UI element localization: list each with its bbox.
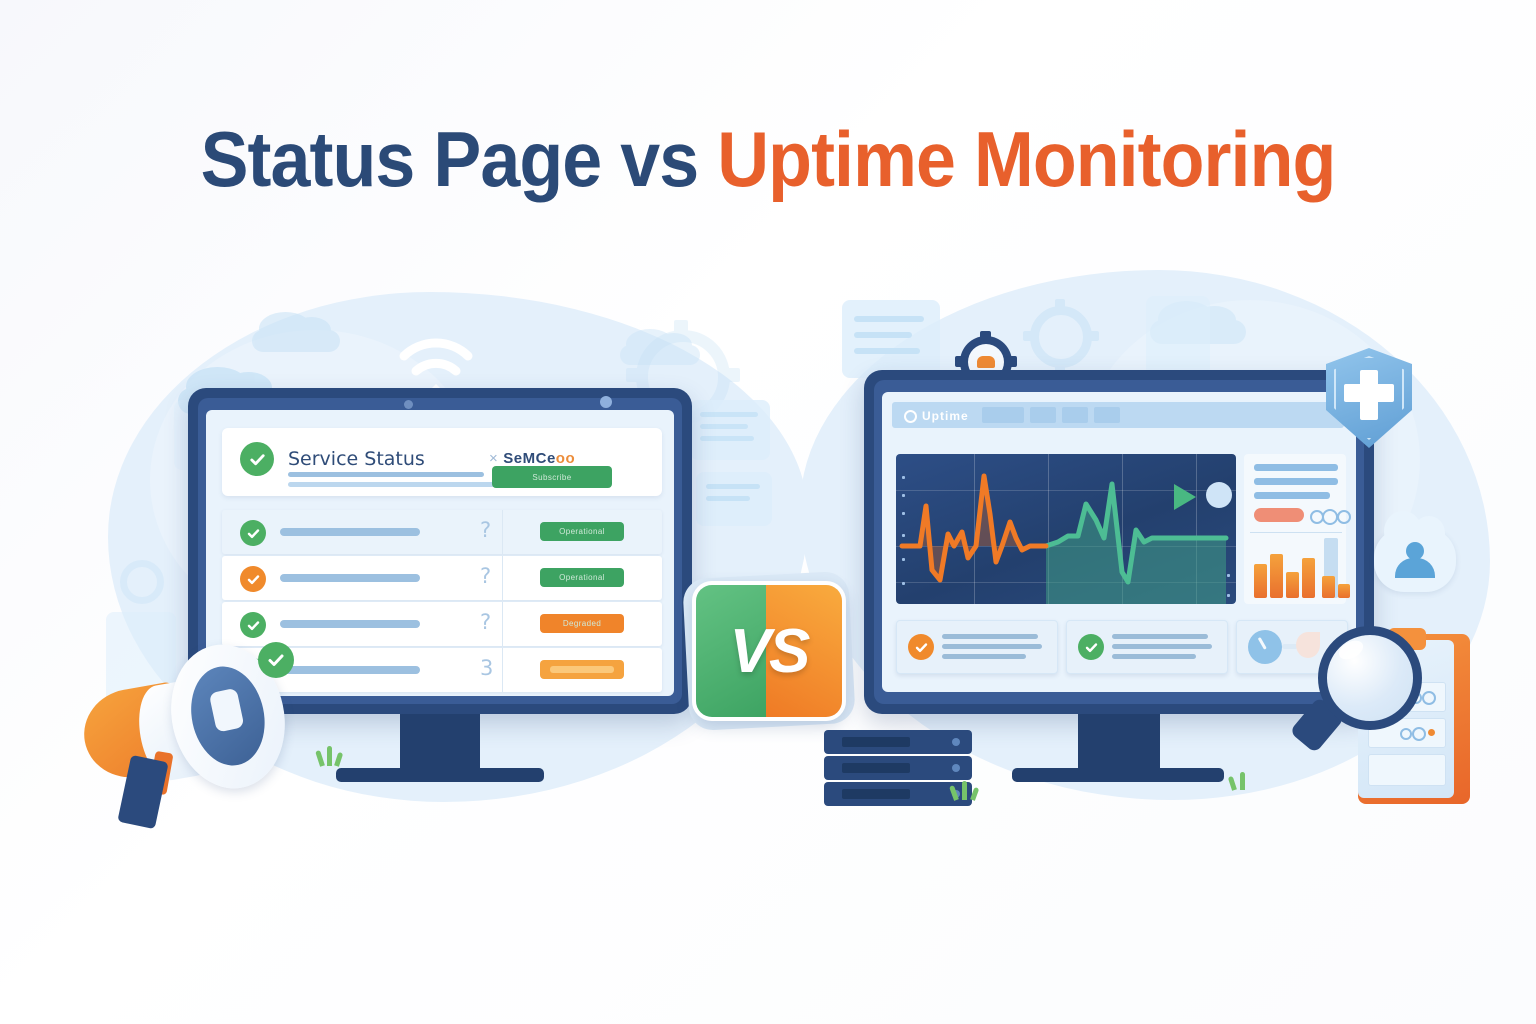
user-cloud-icon xyxy=(1374,528,1456,592)
page-title: Status Page vs Uptime Monitoring xyxy=(61,120,1474,198)
toolbar-tab[interactable] xyxy=(1094,407,1120,423)
side-line xyxy=(1254,492,1330,499)
side-line xyxy=(1254,478,1338,485)
bar-item xyxy=(1270,554,1283,598)
background-line xyxy=(854,316,924,322)
background-line xyxy=(700,412,758,417)
header-line xyxy=(288,482,498,487)
check-circle-icon xyxy=(240,520,266,546)
background-line xyxy=(854,332,912,338)
row-divider xyxy=(502,602,503,646)
bar-item xyxy=(1302,558,1315,598)
title-orange-part: Uptime Monitoring xyxy=(717,115,1335,203)
magnifying-glass-icon xyxy=(1294,622,1414,752)
cloud-icon xyxy=(252,330,340,352)
chart-series xyxy=(896,454,1236,604)
row-glyph: ? xyxy=(480,610,491,634)
vs-badge: VS xyxy=(686,575,852,727)
status-badge: Degraded xyxy=(540,614,624,633)
card-line xyxy=(1112,644,1212,649)
toolbar-tab[interactable] xyxy=(982,407,1024,423)
bar-item xyxy=(1322,576,1335,598)
close-icon: × xyxy=(489,450,498,467)
background-card xyxy=(842,300,940,378)
toolbar-tab[interactable] xyxy=(1062,407,1088,423)
brand-text: SeMCe xyxy=(503,450,556,467)
row-label-line xyxy=(280,528,420,536)
monitor-base xyxy=(336,768,544,782)
header-line xyxy=(288,472,484,477)
status-badge: Operational xyxy=(540,568,624,587)
background-line xyxy=(854,348,920,354)
row-label-line xyxy=(280,620,420,628)
webcam-icon xyxy=(404,400,413,409)
illustration-canvas: Status Page vs Uptime Monitoring xyxy=(0,0,1536,1024)
server-stack-icon xyxy=(824,730,972,754)
status-page-brand: ×SeMCeoo xyxy=(489,450,575,467)
ring-icon xyxy=(1422,691,1436,705)
ring-icon xyxy=(1322,509,1338,525)
monitor-neck xyxy=(400,714,480,770)
status-badge: Operational xyxy=(540,522,624,541)
card-line xyxy=(1112,634,1208,639)
check-circle-icon xyxy=(908,634,934,660)
app-title: Uptime xyxy=(922,409,969,423)
row-divider xyxy=(502,510,503,554)
card-line xyxy=(942,644,1042,649)
check-circle-icon xyxy=(240,566,266,592)
row-divider xyxy=(502,648,503,692)
toolbar-tab[interactable] xyxy=(1030,407,1056,423)
status-badge xyxy=(540,660,624,679)
row-label-line xyxy=(280,574,420,582)
megaphone-icon xyxy=(62,640,312,825)
server-stack-icon xyxy=(824,756,972,780)
bar-item xyxy=(1338,584,1350,598)
monitor-neck xyxy=(1078,714,1160,770)
ring-icon xyxy=(1412,727,1426,741)
play-triangle-icon[interactable] xyxy=(1174,484,1196,510)
row-glyph: ? xyxy=(480,518,491,542)
background-card xyxy=(1146,296,1210,376)
row-divider xyxy=(502,556,503,600)
shield-plus-icon xyxy=(1326,348,1412,448)
check-circle-icon xyxy=(240,612,266,638)
uptime-chart xyxy=(896,454,1236,604)
title-navy-part: Status Page vs xyxy=(201,115,718,203)
bar-item xyxy=(1286,572,1299,598)
side-pill xyxy=(1254,508,1304,522)
rack-row xyxy=(1368,754,1446,786)
side-line xyxy=(1254,464,1338,471)
check-circle-icon xyxy=(258,642,294,678)
card-line xyxy=(942,634,1038,639)
status-orb xyxy=(1206,482,1232,508)
monitor-base xyxy=(1012,768,1224,782)
status-dot xyxy=(1428,729,1435,736)
circle-icon xyxy=(904,410,917,423)
gear-icon xyxy=(1030,306,1092,368)
vs-badge-card: VS xyxy=(692,581,846,721)
background-line xyxy=(706,496,750,501)
side-divider xyxy=(1250,532,1342,533)
background-line xyxy=(700,424,748,429)
card-line xyxy=(942,654,1026,659)
background-card xyxy=(690,400,770,460)
check-circle-icon xyxy=(1078,634,1104,660)
card-line xyxy=(1112,654,1196,659)
indicator-light xyxy=(600,396,612,408)
background-line xyxy=(706,484,760,489)
gauge-icon xyxy=(1248,630,1282,664)
subscribe-button[interactable]: Subscribe xyxy=(492,466,612,488)
check-circle-icon xyxy=(240,442,274,476)
uptime-screen: Uptime xyxy=(882,392,1356,692)
row-glyph: 3 xyxy=(480,656,493,680)
row-glyph: ? xyxy=(480,564,491,588)
brand-suffix: oo xyxy=(556,450,575,467)
ring-icon xyxy=(1337,510,1351,524)
bar-item xyxy=(1254,564,1267,598)
vs-label: VS xyxy=(696,585,842,717)
gear-icon xyxy=(120,560,164,604)
status-page-heading: Service Status xyxy=(288,448,425,470)
background-line xyxy=(700,436,754,441)
